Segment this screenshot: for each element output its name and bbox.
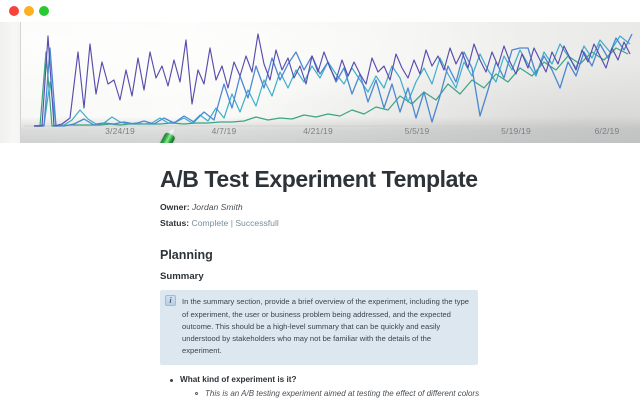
axis-tick-5: 6/2/19 (595, 126, 620, 136)
axis-tick-0: 3/24/19 (105, 126, 135, 136)
answer-text: This is an A/B testing experiment aimed … (205, 388, 480, 400)
document-body: A/B Test Experiment Template Owner: Jord… (0, 143, 640, 400)
info-icon: i (165, 295, 176, 306)
window-titlebar (0, 0, 640, 22)
subheading-summary[interactable]: Summary (160, 271, 480, 282)
meta-owner-label: Owner: (160, 202, 190, 212)
cover-chart-axis-labels: 3/24/19 4/7/19 4/21/19 5/5/19 5/19/19 6/… (0, 126, 640, 142)
axis-tick-3: 5/5/19 (405, 126, 430, 136)
answer-list: This is an A/B testing experiment aimed … (194, 388, 480, 400)
cover-chart-lines (0, 22, 640, 143)
maximize-window-button[interactable] (39, 6, 49, 16)
status-badge[interactable]: Complete | Successfull (192, 218, 279, 228)
meta-owner-value[interactable]: Jordan Smith (192, 202, 243, 212)
list-item[interactable]: What kind of experiment is it? This is a… (169, 374, 480, 400)
document-cover-banner[interactable]: 3/24/19 4/7/19 4/21/19 5/5/19 5/19/19 6/… (0, 22, 640, 143)
app-window: 3/24/19 4/7/19 4/21/19 5/5/19 5/19/19 6/… (0, 0, 640, 400)
list-item[interactable]: This is an A/B testing experiment aimed … (194, 388, 480, 400)
question-text: What kind of experiment is it? (180, 374, 480, 386)
meta-owner: Owner: Jordan Smith (160, 201, 480, 214)
axis-tick-1: 4/7/19 (212, 126, 237, 136)
info-callout-text: In the summary section, provide a brief … (182, 296, 470, 357)
axis-tick-2: 4/21/19 (303, 126, 333, 136)
meta-status-label: Status: (160, 218, 189, 228)
axis-tick-4: 5/19/19 (501, 126, 531, 136)
minimize-window-button[interactable] (24, 6, 34, 16)
window-controls (9, 6, 49, 16)
planning-question-list: What kind of experiment is it? This is a… (169, 374, 480, 400)
meta-status: Status: Complete | Successfull (160, 217, 480, 230)
close-window-button[interactable] (9, 6, 19, 16)
info-callout[interactable]: i In the summary section, provide a brie… (160, 290, 478, 364)
page-title[interactable]: A/B Test Experiment Template (160, 166, 480, 192)
section-heading-planning[interactable]: Planning (160, 248, 480, 262)
